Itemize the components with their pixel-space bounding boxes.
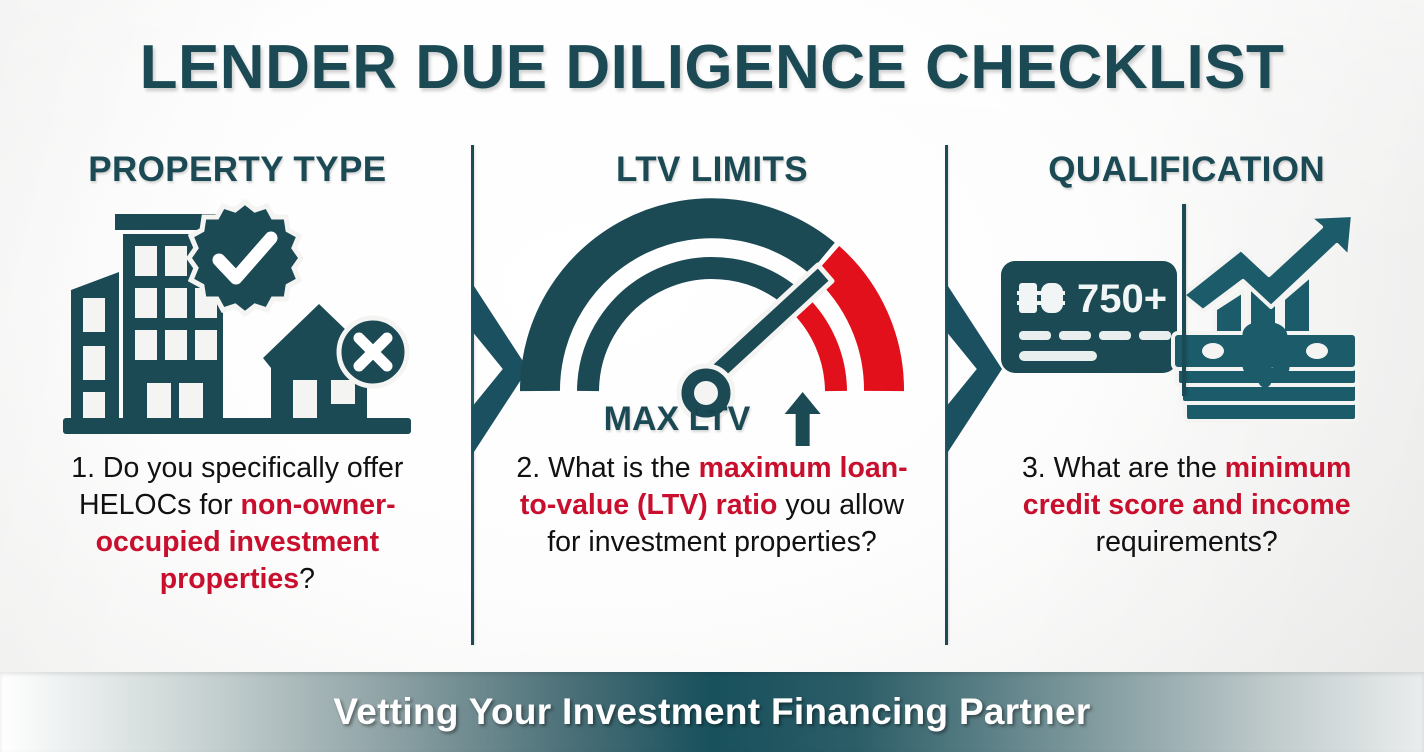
column-property-type: PROPERTY TYPE — [0, 140, 475, 655]
question-3-plain-start: 3. What are the — [1022, 452, 1225, 484]
max-ltv-text: MAX LTV — [604, 400, 751, 439]
column-qualification: QUALIFICATION 7 — [949, 140, 1424, 655]
question-text-1: 1. Do you specifically offer HELOCs for … — [37, 450, 437, 598]
question-text-2: 2. What is the maximum loan-to-value (LT… — [512, 450, 912, 561]
credit-card-icon: 750+ — [1001, 261, 1177, 373]
credit-score-text: 750+ — [1077, 277, 1167, 321]
footer-banner: Vetting Your Investment Financing Partne… — [0, 672, 1424, 752]
property-type-artwork — [0, 190, 475, 450]
footer-tagline: Vetting Your Investment Financing Partne… — [333, 691, 1090, 733]
column-heading-ltv-limits: LTV LIMITS — [616, 150, 808, 190]
ltv-limits-artwork: MAX LTV — [475, 190, 950, 450]
question-text-3: 3. What are the minimum credit score and… — [987, 450, 1387, 561]
question-3-plain-end: requirements? — [1096, 526, 1278, 558]
column-heading-property-type: PROPERTY TYPE — [88, 150, 386, 190]
page-title: LENDER DUE DILIGENCE CHECKLIST — [0, 32, 1424, 103]
infographic-canvas: LENDER DUE DILIGENCE CHECKLIST PROPERTY … — [0, 0, 1424, 752]
question-1-plain-end: ? — [299, 563, 315, 595]
column-ltv-limits: LTV LIMITS — [475, 140, 950, 655]
max-ltv-label-group: MAX LTV — [604, 392, 821, 446]
qualification-inner-divider — [1182, 204, 1186, 396]
column-heading-qualification: QUALIFICATION — [1048, 150, 1325, 190]
growth-chart-money-icon — [1173, 215, 1357, 421]
buildings-check-house-cross-icon — [57, 200, 417, 440]
up-arrow-icon — [784, 392, 820, 446]
qualification-artwork: 750+ — [949, 190, 1424, 450]
credit-card-money-chart-icon: 750+ — [997, 213, 1377, 428]
question-2-plain-start: 2. What is the — [516, 452, 698, 484]
checklist-columns: PROPERTY TYPE — [0, 140, 1424, 655]
